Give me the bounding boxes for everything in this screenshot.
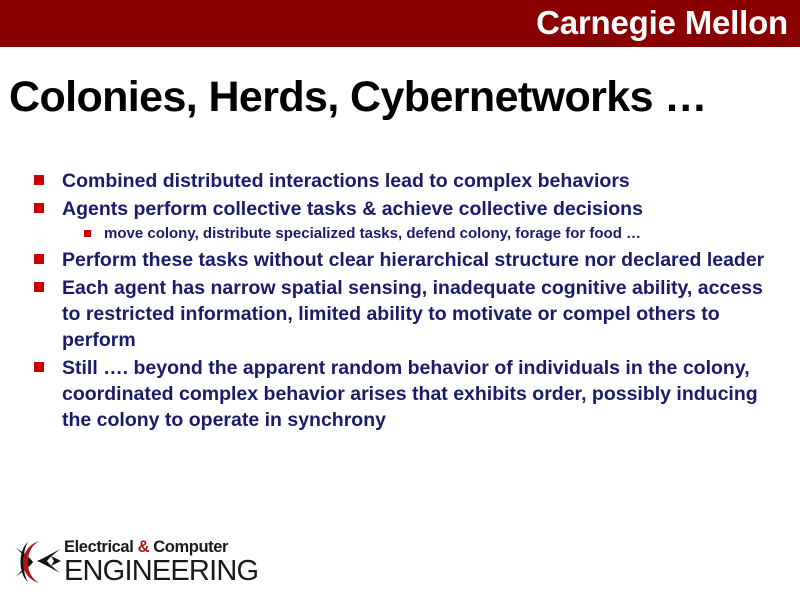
- square-bullet-icon: [34, 203, 44, 213]
- bullet-text: Perform these tasks without clear hierar…: [62, 247, 764, 273]
- ece-logo-line1-pre: Electrical: [64, 538, 138, 556]
- square-bullet-icon: [34, 254, 44, 264]
- square-bullet-icon: [34, 175, 44, 185]
- header-band: Carnegie Mellon: [0, 0, 800, 47]
- square-bullet-icon: [34, 282, 44, 292]
- ece-logo: Electrical & Computer ENGINEERING: [11, 537, 271, 589]
- square-sub-bullet-icon: [84, 230, 91, 237]
- slide-title: Colonies, Herds, Cybernetworks …: [9, 72, 791, 122]
- ece-logo-ampersand: &: [138, 538, 150, 556]
- bullet-text: Combined distributed interactions lead t…: [62, 168, 630, 194]
- bullet-list: Combined distributed interactions lead t…: [34, 168, 774, 435]
- bullet-item: Agents perform collective tasks & achiev…: [34, 196, 774, 222]
- bullet-text: Each agent has narrow spatial sensing, i…: [62, 275, 774, 353]
- ece-logo-mark-icon: [11, 539, 63, 585]
- bullet-text: Agents perform collective tasks & achiev…: [62, 196, 643, 222]
- ece-logo-line1-post: Computer: [149, 538, 228, 556]
- bullet-text: Still …. beyond the apparent random beha…: [62, 355, 774, 433]
- presentation-slide: Carnegie Mellon Colonies, Herds, Cyberne…: [0, 0, 800, 599]
- bullet-item: Still …. beyond the apparent random beha…: [34, 355, 774, 433]
- bullet-item: Each agent has narrow spatial sensing, i…: [34, 275, 774, 353]
- institution-title: Carnegie Mellon: [536, 3, 788, 43]
- ece-logo-wordmark: Electrical & Computer ENGINEERING: [64, 538, 258, 586]
- bullet-item: Perform these tasks without clear hierar…: [34, 247, 774, 273]
- ece-logo-line2: ENGINEERING: [64, 556, 258, 586]
- bullet-item: Combined distributed interactions lead t…: [34, 168, 774, 194]
- square-bullet-icon: [34, 362, 44, 372]
- sub-bullet-text: move colony, distribute specialized task…: [104, 224, 641, 244]
- sub-bullet-item: move colony, distribute specialized task…: [84, 224, 774, 244]
